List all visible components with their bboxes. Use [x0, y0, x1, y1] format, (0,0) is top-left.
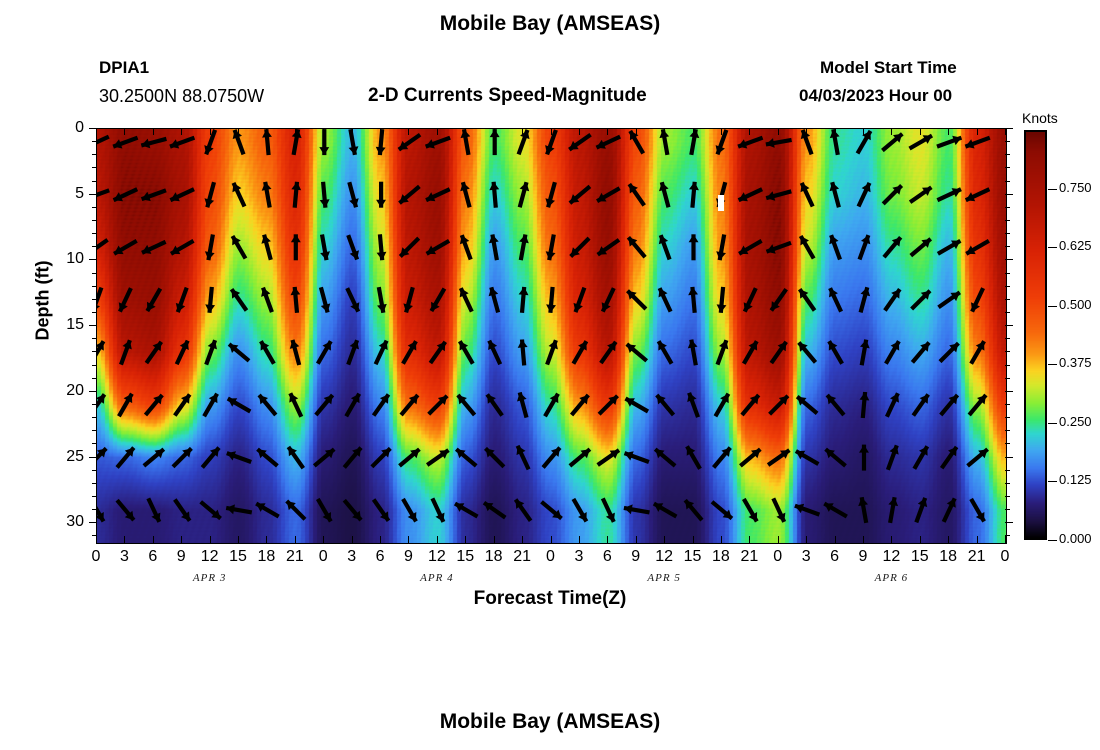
current-vector-arrow: [913, 394, 928, 415]
x-axis-tick-mark: [607, 128, 608, 135]
y-axis-major-tick-mark: [89, 259, 97, 260]
current-vector-arrow: [141, 139, 166, 149]
current-vector-arrow: [148, 498, 160, 522]
current-vector-arrow: [287, 501, 305, 519]
y-axis-minor-tick-mark: [1005, 220, 1010, 221]
current-vector-arrow: [427, 450, 448, 465]
current-vector-arrow: [826, 449, 846, 466]
y-axis-minor-tick-mark: [92, 273, 97, 274]
current-vector-arrow: [170, 138, 194, 149]
x-axis-tick-mark: [749, 536, 750, 543]
x-axis-tick-mark: [465, 536, 466, 543]
current-vector-arrow: [400, 449, 420, 466]
y-axis-minor-tick-mark: [1005, 365, 1010, 366]
current-vector-arrow: [432, 498, 444, 522]
x-axis-tick-mark: [522, 128, 523, 135]
colorbar-tick-label: 0.125: [1059, 472, 1092, 487]
current-vector-arrow: [658, 341, 671, 364]
x-axis-tick-mark: [721, 536, 722, 543]
current-vector-arrow: [347, 288, 359, 312]
y-axis-minor-tick-mark: [92, 312, 97, 313]
current-vector-arrow: [601, 342, 616, 363]
current-vector-arrow: [766, 138, 792, 148]
current-vector-arrow: [795, 504, 820, 515]
current-vector-arrow: [117, 448, 134, 468]
y-axis-minor-tick-mark: [1005, 207, 1010, 208]
x-axis-tick-mark: [494, 128, 495, 135]
current-vector-arrow: [771, 289, 786, 310]
x-axis-day-label: APR 4: [397, 572, 477, 584]
x-axis-tick-mark: [181, 128, 182, 135]
current-vector-arrow: [911, 239, 931, 256]
y-axis-minor-tick-mark: [92, 483, 97, 484]
current-vector-arrow: [965, 138, 989, 149]
current-vector-arrow: [519, 287, 529, 313]
current-vector-arrow: [349, 129, 359, 155]
y-axis-minor-tick-mark: [1005, 167, 1010, 168]
x-axis-tick-mark: [778, 536, 779, 543]
x-axis-day-label: APR 3: [170, 572, 250, 584]
current-vector-arrow: [458, 395, 475, 415]
current-vector-arrow: [489, 287, 499, 312]
current-vector-arrow: [570, 449, 590, 466]
current-vector-arrow: [766, 191, 791, 201]
y-axis-minor-tick-mark: [92, 378, 97, 379]
y-axis-minor-tick-mark: [1005, 535, 1010, 536]
current-vector-arrow: [119, 288, 131, 312]
current-vector-arrow: [940, 343, 958, 361]
current-vector-arrow: [346, 394, 359, 417]
current-vector-arrow: [377, 234, 387, 260]
y-axis-minor-tick-mark: [1005, 496, 1010, 497]
y-axis-minor-tick-mark: [92, 470, 97, 471]
current-vector-arrow: [830, 182, 840, 207]
x-axis-tick-mark: [607, 536, 608, 543]
current-vector-arrow: [971, 288, 983, 312]
current-vector-arrow: [628, 237, 645, 257]
x-axis-tick-mark: [835, 536, 836, 543]
current-vector-arrow: [884, 237, 901, 257]
current-vector-arrow: [316, 395, 333, 415]
x-axis-tick-mark: [920, 536, 921, 543]
x-axis-tick-mark: [266, 536, 267, 543]
current-vector-arrow: [430, 342, 445, 363]
y-axis-major-tick-mark: [1005, 194, 1013, 195]
current-vector-arrow: [744, 341, 757, 364]
current-vector-arrow: [349, 182, 359, 207]
current-vector-arrow: [969, 395, 986, 415]
x-axis-tick-mark: [380, 128, 381, 135]
current-vector-arrow: [113, 138, 137, 149]
current-vector-arrow: [291, 234, 301, 260]
y-axis-minor-tick-mark: [92, 443, 97, 444]
current-vector-arrow: [97, 288, 101, 313]
current-vector-arrow: [944, 498, 956, 522]
current-vector-arrow: [829, 288, 841, 312]
x-axis-tick-mark: [210, 128, 211, 135]
current-vector-arrow: [456, 449, 476, 466]
current-vector-arrow: [173, 448, 191, 466]
x-axis-tick-mark: [437, 128, 438, 135]
current-vector-arrow: [170, 189, 194, 201]
y-axis-minor-tick-mark: [1005, 246, 1010, 247]
current-vector-arrow: [261, 288, 272, 313]
y-axis-minor-tick-mark: [1005, 483, 1010, 484]
y-axis-minor-tick-mark: [1005, 299, 1010, 300]
current-vector-arrow: [860, 235, 871, 259]
y-axis-major-tick-mark: [1005, 457, 1013, 458]
current-vector-arrow: [942, 447, 957, 468]
x-axis-tick-mark: [352, 536, 353, 543]
current-vector-arrow: [117, 500, 134, 520]
x-axis-tick-mark: [749, 128, 750, 135]
current-vector-arrow: [205, 287, 215, 313]
current-vector-arrow: [201, 502, 221, 519]
y-axis-major-tick-mark: [1005, 391, 1013, 392]
x-axis-tick-mark: [408, 536, 409, 543]
current-vector-arrow: [796, 451, 819, 464]
current-vector-arrow: [657, 395, 674, 415]
colorbar: [1024, 130, 1047, 540]
current-vector-arrow: [573, 341, 586, 364]
y-axis-minor-tick-mark: [1005, 378, 1010, 379]
current-vector-arrow: [937, 136, 961, 147]
missing-data-pixel: [718, 195, 724, 211]
y-axis-minor-tick-mark: [92, 167, 97, 168]
x-axis-tick-mark: [891, 128, 892, 135]
y-axis-minor-tick-mark: [1005, 430, 1010, 431]
colorbar-gradient: [1026, 132, 1045, 538]
current-vector-arrow: [742, 395, 759, 415]
current-vector-arrow: [484, 503, 505, 518]
x-axis-tick-mark: [891, 536, 892, 543]
current-vector-arrow: [767, 243, 792, 254]
current-vector-arrow: [971, 499, 984, 522]
current-vector-arrow: [147, 289, 160, 312]
current-vector-arrow: [547, 340, 558, 364]
current-vector-arrow: [545, 182, 555, 207]
x-axis-tick-mark: [835, 128, 836, 135]
current-vector-arrow: [800, 236, 813, 259]
current-vector-arrow: [912, 291, 930, 309]
current-vector-arrow: [860, 392, 870, 418]
current-vector-arrow: [97, 240, 108, 255]
y-axis-major-tick-mark: [1005, 325, 1013, 326]
current-vector-arrow: [571, 238, 589, 256]
current-vector-arrow: [914, 446, 927, 469]
y-axis-minor-tick-mark: [1005, 443, 1010, 444]
y-axis-minor-tick-mark: [1005, 351, 1010, 352]
current-vector-arrow: [344, 500, 361, 520]
y-axis-minor-tick-mark: [92, 338, 97, 339]
current-vector-arrow: [887, 393, 899, 417]
current-vector-arrow: [717, 287, 727, 313]
y-axis-tick-label: 20: [44, 382, 84, 400]
current-vector-arrow: [401, 395, 418, 415]
current-vector-arrow: [262, 182, 272, 208]
x-axis-tick-mark: [96, 536, 97, 543]
y-axis-major-tick-mark: [1005, 522, 1013, 523]
x-axis-tick-mark: [295, 128, 296, 135]
current-vector-arrow: [344, 448, 361, 468]
current-vector-arrow: [938, 241, 961, 254]
y-axis-major-tick-mark: [89, 325, 97, 326]
current-vector-arrow: [259, 395, 276, 415]
current-vector-arrow: [202, 448, 219, 468]
y-axis-minor-tick-mark: [1005, 509, 1010, 510]
y-axis-tick-label: 30: [44, 513, 84, 531]
current-vector-arrow: [228, 398, 251, 411]
current-vector-arrow: [744, 499, 757, 522]
current-vector-arrow: [319, 129, 329, 155]
current-vector-arrow: [687, 393, 698, 417]
current-vector-arrow: [97, 394, 105, 415]
x-axis-tick-mark: [664, 128, 665, 135]
x-axis-tick-mark: [266, 128, 267, 135]
current-vector-arrow: [659, 235, 670, 259]
current-vector-arrow: [597, 137, 621, 149]
current-vector-arrow: [486, 448, 504, 466]
x-axis-tick-mark: [210, 536, 211, 543]
y-axis-minor-tick-mark: [1005, 404, 1010, 405]
y-axis-major-tick-mark: [89, 391, 97, 392]
x-axis-tick-mark: [778, 128, 779, 135]
current-vector-arrow: [205, 182, 215, 207]
current-vector-arrow: [261, 341, 274, 364]
current-vector-arrow: [314, 449, 334, 466]
current-vector-arrow: [205, 235, 215, 261]
current-vector-arrow: [545, 394, 558, 417]
current-vector-arrow: [829, 341, 842, 364]
current-vector-arrow: [97, 448, 106, 466]
x-axis-tick-mark: [977, 128, 978, 135]
x-axis-tick-mark: [153, 536, 154, 543]
current-vector-arrow: [226, 504, 252, 514]
current-vector-arrow: [460, 341, 473, 364]
current-vector-arrow: [829, 235, 840, 259]
current-vector-arrow: [121, 340, 132, 364]
current-vector-arrow: [939, 292, 960, 307]
x-axis-tick-mark: [408, 128, 409, 135]
y-axis-minor-tick-mark: [92, 220, 97, 221]
current-vector-arrow: [628, 291, 646, 309]
station-coordinates-label: 30.2500N 88.0750W: [99, 86, 264, 107]
colorbar-tick-label: 0.750: [1059, 180, 1092, 195]
current-vector-arrow: [460, 182, 470, 207]
y-axis-minor-tick-mark: [92, 299, 97, 300]
current-vector-arrow: [546, 235, 556, 261]
current-vector-arrow: [146, 395, 163, 415]
current-vector-arrow: [400, 186, 420, 203]
current-vector-arrow: [97, 499, 104, 522]
current-vector-arrow: [625, 451, 649, 462]
current-vector-arrow: [516, 500, 531, 521]
current-vector-arrow: [570, 186, 590, 203]
current-vector-arrow: [715, 394, 728, 417]
current-vector-arrow: [827, 395, 844, 415]
colorbar-tick-label: 0.500: [1059, 297, 1092, 312]
current-vector-arrow: [543, 448, 560, 468]
current-vector-arrow: [142, 242, 166, 254]
current-vector-arrow: [572, 395, 589, 415]
y-axis-minor-tick-mark: [1005, 312, 1010, 313]
current-vector-arrow: [629, 184, 644, 205]
x-axis-tick-mark: [1005, 128, 1006, 135]
current-vector-arrow: [888, 445, 899, 469]
x-axis-tick-mark: [352, 128, 353, 135]
current-vector-arrow: [318, 341, 331, 364]
current-vector-arrow: [177, 341, 189, 365]
current-vector-arrow: [318, 499, 331, 522]
current-vector-arrow: [712, 502, 732, 519]
y-axis-minor-tick-mark: [1005, 338, 1010, 339]
current-vector-arrow: [690, 129, 700, 155]
current-vector-arrow: [654, 503, 677, 516]
current-vector-arrow: [968, 449, 988, 466]
current-vector-arrow: [232, 183, 244, 207]
x-axis-tick-mark: [863, 536, 864, 543]
y-axis-major-tick-mark: [1005, 128, 1013, 129]
current-vector-arrow: [599, 396, 617, 414]
y-axis-minor-tick-mark: [92, 404, 97, 405]
current-vector-arrow: [937, 188, 961, 200]
current-vector-arrow: [290, 340, 300, 365]
current-vector-arrow: [426, 189, 450, 201]
y-axis-major-tick-mark: [89, 128, 97, 129]
colorbar-tick-label: 0.625: [1059, 238, 1092, 253]
current-vector-arrow: [569, 135, 590, 150]
current-vector-arrow: [624, 504, 650, 514]
current-vector-arrow: [941, 395, 958, 415]
current-vector-arrow: [740, 449, 760, 466]
station-id-label: DPIA1: [99, 58, 149, 78]
current-vector-arrow: [403, 341, 416, 364]
current-vector-arrow: [291, 287, 301, 313]
x-axis-tick-mark: [636, 536, 637, 543]
current-vector-arrow: [400, 238, 418, 256]
x-axis-tick-mark: [551, 128, 552, 135]
x-axis-tick-mark: [551, 536, 552, 543]
x-axis-tick-mark: [494, 536, 495, 543]
x-axis-tick-mark: [806, 536, 807, 543]
colorbar-tick-mark: [1048, 189, 1057, 190]
current-vector-arrow: [716, 235, 726, 261]
current-vector-arrow: [768, 450, 789, 465]
current-vector-arrow: [858, 131, 871, 154]
heatmap-plot-area: [96, 128, 1007, 544]
current-vector-arrow: [144, 449, 164, 466]
y-axis-minor-tick-mark: [1005, 470, 1010, 471]
current-vector-arrow: [146, 342, 161, 363]
y-axis-minor-tick-mark: [92, 417, 97, 418]
current-vector-arrow: [399, 135, 420, 150]
current-vector-arrow: [289, 393, 301, 417]
y-axis-tick-label: 5: [44, 185, 84, 203]
current-vector-arrow: [374, 500, 389, 521]
current-vector-arrow: [292, 129, 302, 155]
current-vector-arrow: [261, 235, 271, 260]
x-axis-tick-mark: [96, 128, 97, 135]
current-vector-arrow: [714, 448, 731, 468]
y-axis-minor-tick-mark: [92, 154, 97, 155]
current-vector-arrow: [258, 449, 278, 466]
x-axis-tick-mark: [948, 536, 949, 543]
current-vector-arrow: [861, 287, 871, 312]
current-vector-arrow: [966, 241, 989, 254]
current-vector-arrow: [688, 287, 698, 313]
current-vector-arrow: [687, 446, 700, 469]
y-axis-minor-tick-mark: [92, 351, 97, 352]
current-vector-arrow: [431, 289, 444, 312]
current-vector-arrow: [797, 397, 817, 414]
y-axis-minor-tick-mark: [1005, 417, 1010, 418]
current-direction-vector-field: [97, 129, 1006, 543]
colorbar-tick-label: 0.375: [1059, 355, 1092, 370]
x-axis-tick-mark: [295, 536, 296, 543]
current-vector-arrow: [882, 134, 902, 151]
x-axis-tick-mark: [693, 536, 694, 543]
x-axis-tick-mark: [153, 128, 154, 135]
current-vector-arrow: [888, 497, 898, 523]
x-axis-tick-mark: [664, 536, 665, 543]
x-axis-title: Forecast Time(Z): [0, 588, 1100, 610]
current-vector-arrow: [883, 186, 901, 204]
y-axis-minor-tick-mark: [92, 509, 97, 510]
current-vector-arrow: [455, 503, 478, 516]
y-axis-major-tick-mark: [89, 522, 97, 523]
current-vector-arrow: [320, 182, 330, 208]
y-axis-minor-tick-mark: [92, 233, 97, 234]
current-vector-arrow: [659, 182, 669, 207]
x-axis-tick-label: 0: [985, 548, 1025, 566]
y-axis-minor-tick-mark: [1005, 154, 1010, 155]
current-vector-arrow: [655, 449, 675, 466]
current-vector-arrow: [376, 341, 388, 365]
current-vector-arrow: [971, 341, 984, 364]
colorbar-tick-mark: [1048, 306, 1057, 307]
current-vector-arrow: [206, 340, 217, 364]
current-vector-arrow: [910, 135, 933, 148]
model-start-time-value: 04/03/2023 Hour 00: [799, 86, 952, 106]
current-vector-arrow: [801, 183, 813, 207]
current-vector-arrow: [291, 182, 301, 208]
current-vector-arrow: [321, 287, 331, 312]
y-axis-title: Depth (ft): [33, 241, 54, 361]
current-vector-arrow: [603, 498, 615, 522]
colorbar-tick-mark: [1048, 247, 1057, 248]
x-axis-tick-mark: [636, 128, 637, 135]
x-axis-tick-mark: [920, 128, 921, 135]
current-vector-arrow: [176, 288, 187, 313]
y-axis-minor-tick-mark: [1005, 286, 1010, 287]
y-axis-minor-tick-mark: [92, 207, 97, 208]
current-vector-arrow: [598, 450, 619, 465]
y-axis-minor-tick-mark: [92, 496, 97, 497]
current-vector-arrow: [426, 138, 450, 149]
current-vector-arrow: [460, 235, 471, 259]
current-vector-arrow: [97, 190, 109, 201]
y-axis-tick-label: 0: [44, 119, 84, 137]
current-vector-arrow: [114, 241, 137, 254]
footer-title: Mobile Bay (AMSEAS): [0, 710, 1100, 734]
current-vector-arrow: [519, 130, 530, 155]
y-axis-minor-tick-mark: [1005, 141, 1010, 142]
x-axis-tick-mark: [1005, 536, 1006, 543]
current-vector-arrow: [256, 503, 279, 516]
current-vector-arrow: [800, 289, 815, 310]
current-vector-arrow: [377, 287, 387, 313]
current-vector-arrow: [517, 446, 529, 470]
